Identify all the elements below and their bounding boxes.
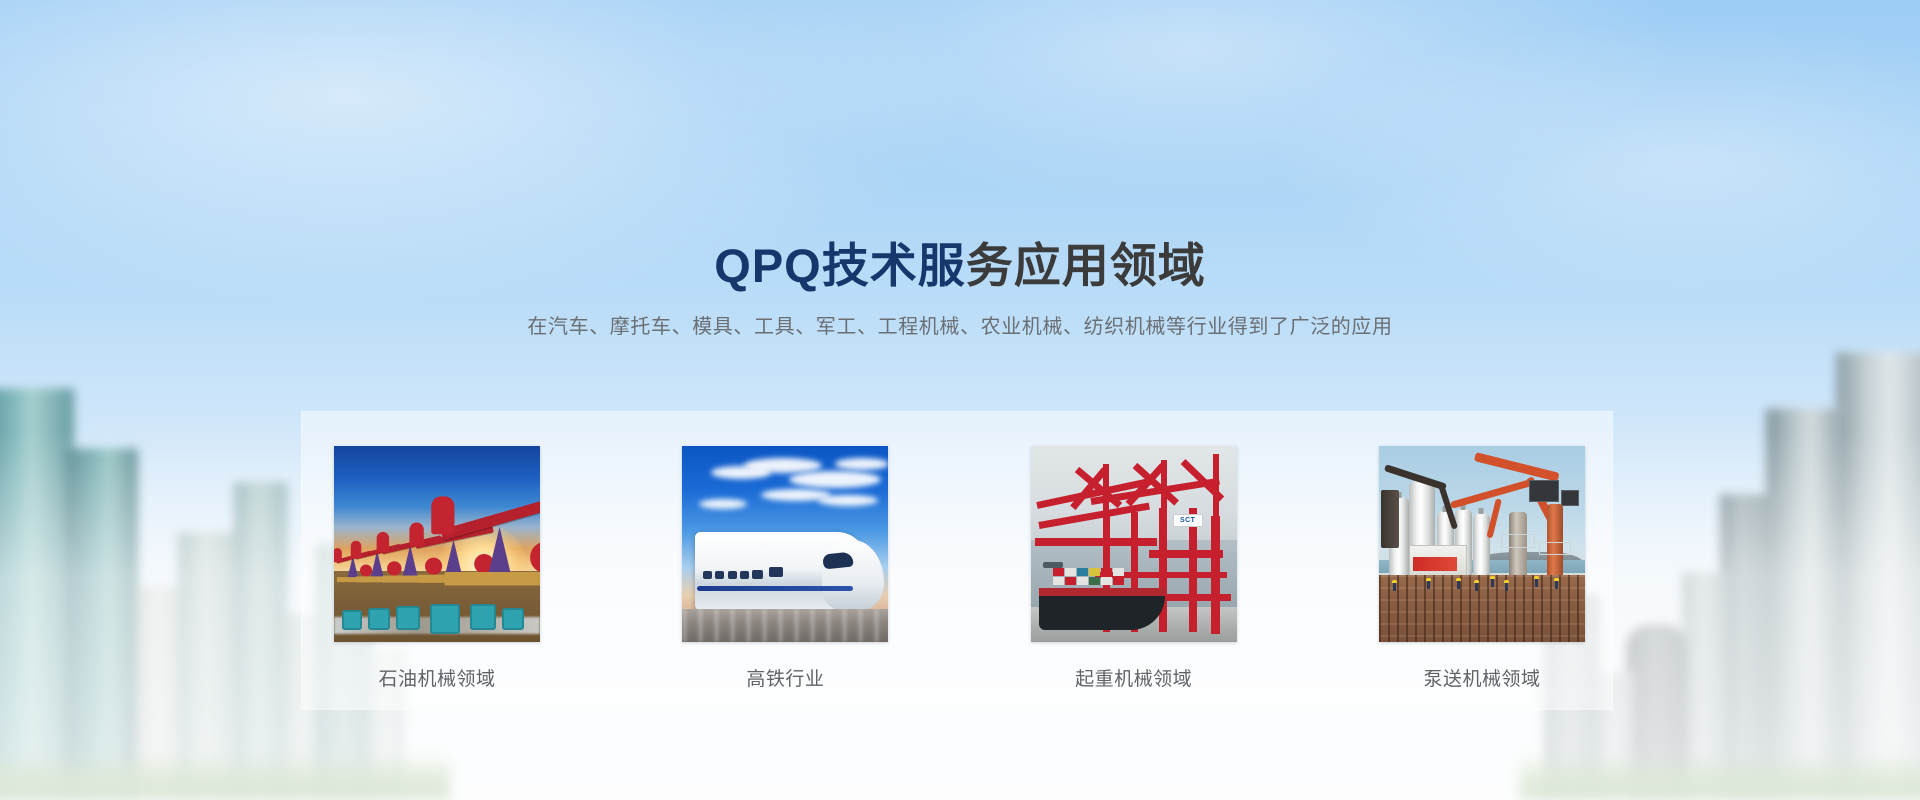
concrete-pump-photo[interactable] (1379, 446, 1585, 642)
gallery-card-list: 石油机械领域 (334, 446, 1585, 686)
high-speed-train-scene (682, 446, 888, 642)
gallery-card[interactable]: 高铁行业 (682, 446, 888, 686)
oil-pumpjacks-photo[interactable] (334, 446, 540, 642)
crane-brand-label: SCT (1173, 514, 1203, 527)
gallery-card-caption: 石油机械领域 (334, 664, 540, 691)
gallery-card-caption: 起重机械领域 (1031, 664, 1237, 691)
page-subtitle: 在汽车、摩托车、模具、工具、军工、工程机械、农业机械、纺织机械等行业得到了广泛的… (0, 313, 1920, 341)
gallery-card[interactable]: SCT 起重机械领域 (1031, 446, 1237, 686)
port-crane-scene: SCT (1031, 446, 1237, 642)
page-title-segment-primary: QPQ技术服 (714, 239, 965, 292)
page-title-segment-secondary: 务应用领域 (966, 239, 1206, 292)
page-title: QPQ技术服务应用领域 (0, 238, 1920, 293)
oil-field-scene (334, 446, 540, 642)
gallery-card[interactable]: 泵送机械领域 (1379, 446, 1585, 686)
gallery-card-caption: 泵送机械领域 (1379, 664, 1585, 691)
concrete-pump-scene (1379, 446, 1585, 642)
port-gantry-cranes-photo[interactable]: SCT (1031, 446, 1237, 642)
gallery-card[interactable]: 石油机械领域 (334, 446, 540, 686)
high-speed-train-photo[interactable] (682, 446, 888, 642)
page-heading-block: QPQ技术服务应用领域 在汽车、摩托车、模具、工具、军工、工程机械、农业机械、纺… (0, 238, 1920, 341)
gallery-card-caption: 高铁行业 (682, 664, 888, 691)
